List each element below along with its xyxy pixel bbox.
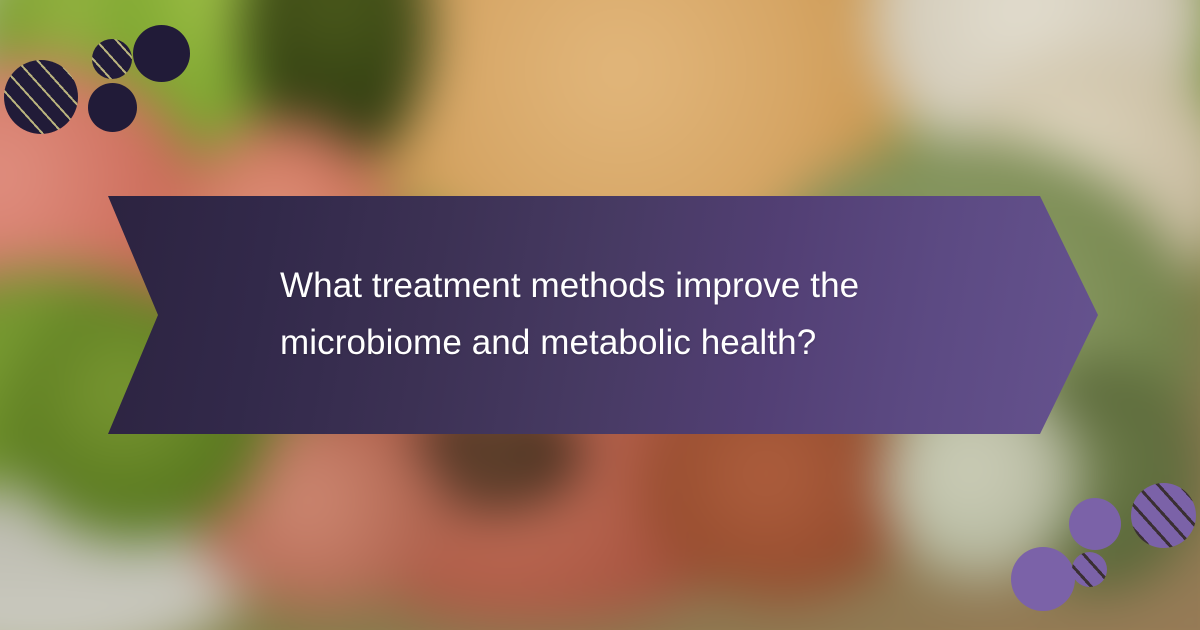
- deco-circle-solid-large-topleft: [133, 25, 190, 82]
- deco-circle-solid-medium-topleft: [88, 83, 137, 132]
- social-card: What treatment methods improve the micro…: [0, 0, 1200, 630]
- headline-text: What treatment methods improve the micro…: [280, 258, 940, 371]
- deco-circle-striped-small-bottomright: [1072, 552, 1107, 587]
- deco-circle-solid-large-bottomright: [1011, 547, 1075, 611]
- deco-circle-striped-small-topleft: [92, 39, 132, 79]
- deco-circle-solid-medium-bottomright: [1069, 498, 1121, 550]
- deco-circle-striped-large-bottomright: [1131, 483, 1196, 548]
- headline-banner: What treatment methods improve the micro…: [108, 196, 1098, 434]
- deco-circle-striped-large-topleft: [4, 60, 78, 134]
